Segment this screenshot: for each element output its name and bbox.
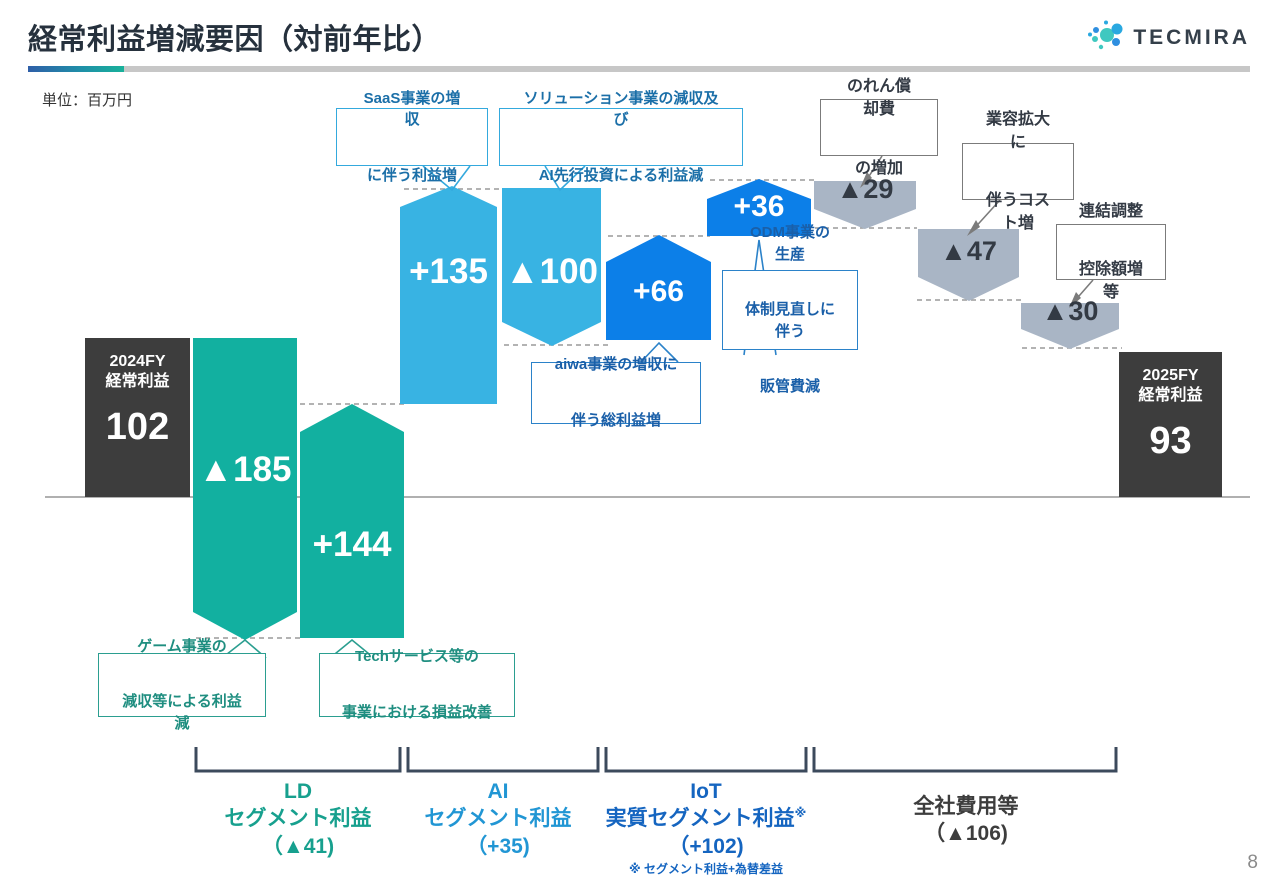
segment-label-ai: AI セグメント利益 （+35) <box>396 778 600 860</box>
segment-label-corporate: 全社費用等 （▲106) <box>864 793 1068 848</box>
callout-goodwill-line2: の増加 <box>831 151 927 186</box>
callout-game-line2: 減収等による利益減 <box>109 685 255 741</box>
callout-tech-line1: Techサービス等の <box>332 640 502 674</box>
callout-solution-line2: AI先行投資による利益減 <box>510 159 732 193</box>
segment-corp-total: （▲106) <box>864 820 1068 847</box>
callout-game-line1: ゲーム事業の <box>109 630 255 664</box>
segment-ld-total: （▲41) <box>196 833 400 860</box>
bar-tech-services <box>300 404 404 638</box>
callout-odm: ODM事業の生産 体制見直しに伴う 販管費減 <box>722 270 858 350</box>
segment-iot-total: （+102) <box>590 833 822 860</box>
callout-aiwa-line1: aiwa事業の増収に <box>545 348 688 382</box>
segment-iot-note: ※ セグメント利益+為替差益 <box>590 862 822 878</box>
segment-corp-name: 全社費用等 <box>864 793 1068 820</box>
bar-aiwa-growth <box>606 235 711 340</box>
segment-ld-name: LD <box>196 778 400 805</box>
callout-consolidation: 連結調整 控除額増 等 <box>1056 224 1166 280</box>
segment-ld-sub: セグメント利益 <box>196 805 400 832</box>
callout-consolidation-line1: 連結調整 <box>1067 194 1155 229</box>
endcap-2025fy-title: 2025FY 経常利益 <box>1119 366 1222 406</box>
callout-saas-line2: に伴う利益増 <box>347 159 477 193</box>
segment-ai-name: AI <box>396 778 600 805</box>
bar-game-decline <box>193 338 297 640</box>
callout-expansion-line1: 業容拡大に <box>973 102 1063 160</box>
callout-tech: Techサービス等の 事業における損益改善 <box>319 653 515 717</box>
callout-odm-line3: 販管費減 <box>733 370 847 404</box>
callout-solution-line1: ソリューション事業の減収及び <box>510 82 732 138</box>
bar-solution-ai <box>502 188 601 346</box>
segment-brackets <box>196 747 1116 771</box>
segment-ai-sub: セグメント利益 <box>396 805 600 832</box>
endcap-2025fy: 2025FY 経常利益 93 <box>1119 352 1222 497</box>
callout-expansion-line2: 伴うコスト増 <box>973 183 1063 241</box>
callout-consolidation-line2: 控除額増 等 <box>1067 252 1155 310</box>
callout-saas: SaaS事業の増収 に伴う利益増 <box>336 108 488 166</box>
callout-saas-line1: SaaS事業の増収 <box>347 82 477 138</box>
endcap-2024fy-value: 102 <box>85 406 190 449</box>
callout-goodwill: のれん償却費 の増加 <box>820 99 938 156</box>
endcap-2024fy: 2024FY 経常利益 102 <box>85 338 190 497</box>
callout-game: ゲーム事業の 減収等による利益減 <box>98 653 266 717</box>
segment-iot-marker: ※ <box>795 806 807 820</box>
callout-solution: ソリューション事業の減収及び AI先行投資による利益減 <box>499 108 743 166</box>
callout-aiwa: aiwa事業の増収に 伴う総利益増 <box>531 362 701 424</box>
segment-iot-sub: 実質セグメント利益※ <box>590 805 822 832</box>
waterfall-chart: ▲185 +144 +135 ▲100 +66 +36 ▲29 ▲47 ▲30 … <box>0 0 1280 886</box>
endcap-2024fy-title: 2024FY 経常利益 <box>85 352 190 392</box>
segment-iot-name: IoT <box>590 778 822 805</box>
segment-ai-total: （+35) <box>396 833 600 860</box>
segment-label-ld: LD セグメント利益 （▲41) <box>196 778 400 860</box>
endcap-2025fy-value: 93 <box>1119 420 1222 463</box>
callout-aiwa-line2: 伴う総利益増 <box>545 404 688 438</box>
callout-odm-line2: 体制見直しに伴う <box>733 293 847 349</box>
callout-odm-line1: ODM事業の生産 <box>733 216 847 272</box>
callout-tech-line2: 事業における損益改善 <box>332 696 502 730</box>
bar-saas-growth <box>400 186 497 404</box>
callout-goodwill-line1: のれん償却費 <box>831 69 927 127</box>
segment-label-iot: IoT 実質セグメント利益※ （+102) ※ セグメント利益+為替差益 <box>590 778 822 877</box>
